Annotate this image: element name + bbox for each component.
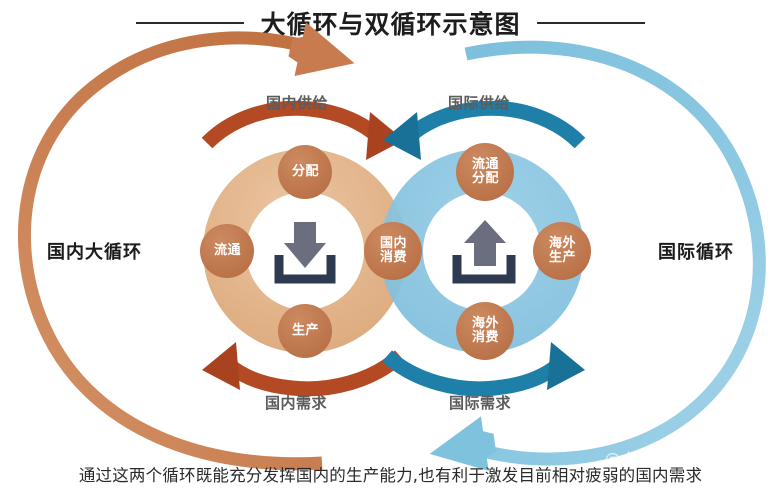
node-label-haiwai-xiaofei-line2: 消费	[472, 331, 499, 345]
node-label-fenpei: 分配	[292, 165, 319, 179]
flow-label-domestic-supply: 国内供给	[266, 92, 328, 113]
node-label-haiwai-shengchan: 海外 生产	[549, 237, 576, 265]
side-label-international: 国际循环	[658, 238, 734, 264]
node-label-haiwai-shengchan-line2: 生产	[549, 251, 576, 265]
flow-label-international-supply: 国际供给	[448, 92, 510, 113]
node-label-guonei-xiaofei: 国内 消费	[380, 237, 407, 265]
node-label-haiwai-xiaofei-line1: 海外	[472, 317, 499, 331]
flow-label-international-demand: 国际需求	[449, 392, 511, 413]
flow-label-domestic-demand: 国内需求	[265, 392, 327, 413]
node-label-liutong-fenpei-line1: 流通	[472, 158, 499, 172]
node-label-liutong: 流通	[214, 244, 241, 258]
node-label-shengchan: 生产	[292, 324, 319, 338]
caption-text: 通过这两个循环既能充分发挥国内的生产能力,也有利于激发目前相对疲弱的国内需求	[0, 462, 781, 486]
node-label-liutong-fenpei-line2: 分配	[472, 172, 499, 186]
node-label-haiwai-shengchan-line1: 海外	[549, 237, 576, 251]
node-label-haiwai-xiaofei: 海外 消费	[472, 317, 499, 345]
side-label-domestic: 国内大循环	[47, 238, 142, 264]
node-label-guonei-xiaofei-line2: 消费	[380, 251, 407, 265]
node-label-liutong-fenpei: 流通 分配	[472, 158, 499, 186]
node-label-guonei-xiaofei-line1: 国内	[380, 237, 407, 251]
